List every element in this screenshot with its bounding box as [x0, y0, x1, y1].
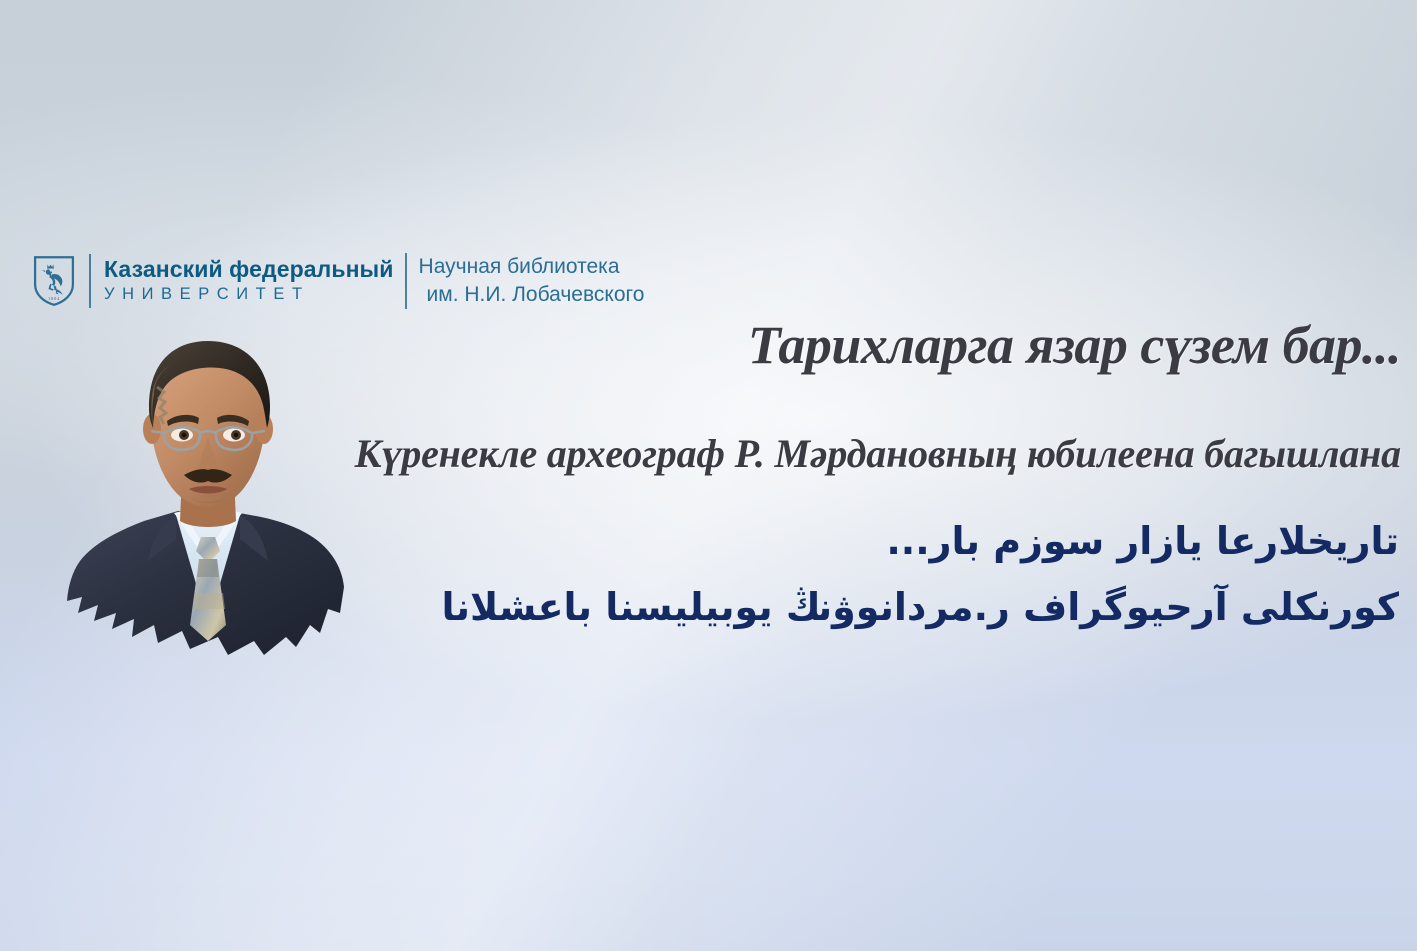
- svg-text:1804: 1804: [48, 296, 60, 301]
- university-name-block: Казанский федеральный УНИВЕРСИТЕТ: [104, 257, 394, 305]
- kfu-zilant-shield-icon: 1804: [33, 255, 75, 307]
- poster-banner: 1804 Казанский федеральный УНИВЕРСИТЕТ Н…: [0, 0, 1417, 951]
- headline-subtitle: Күренекле археограф Р. Мәрдановның юбиле…: [201, 434, 1401, 474]
- arabic-title-line: تاريخلارعا يازار سوزم بار...: [886, 522, 1399, 560]
- university-name-line1: Казанский федеральный: [104, 257, 394, 281]
- library-name-line2: им. Н.И. Лобачевского: [419, 281, 645, 309]
- portrait-image: [58, 325, 358, 670]
- arabic-subtitle-line: كورنكلى آرحيوگراف ر.مردانوۋنڭ يوبيليسنا …: [442, 588, 1399, 626]
- kfu-library-logo[interactable]: 1804 Казанский федеральный УНИВЕРСИТЕТ Н…: [33, 246, 644, 316]
- university-name-line2: УНИВЕРСИТЕТ: [104, 281, 394, 305]
- library-name-line1: Научная библиотека: [419, 253, 645, 281]
- library-name-block: Научная библиотека им. Н.И. Лобачевского: [419, 253, 645, 308]
- headline-title: Тарихларга язар сүзем бар...: [401, 318, 1401, 372]
- logo-divider-left: [89, 254, 91, 308]
- logo-divider-right: [405, 253, 407, 309]
